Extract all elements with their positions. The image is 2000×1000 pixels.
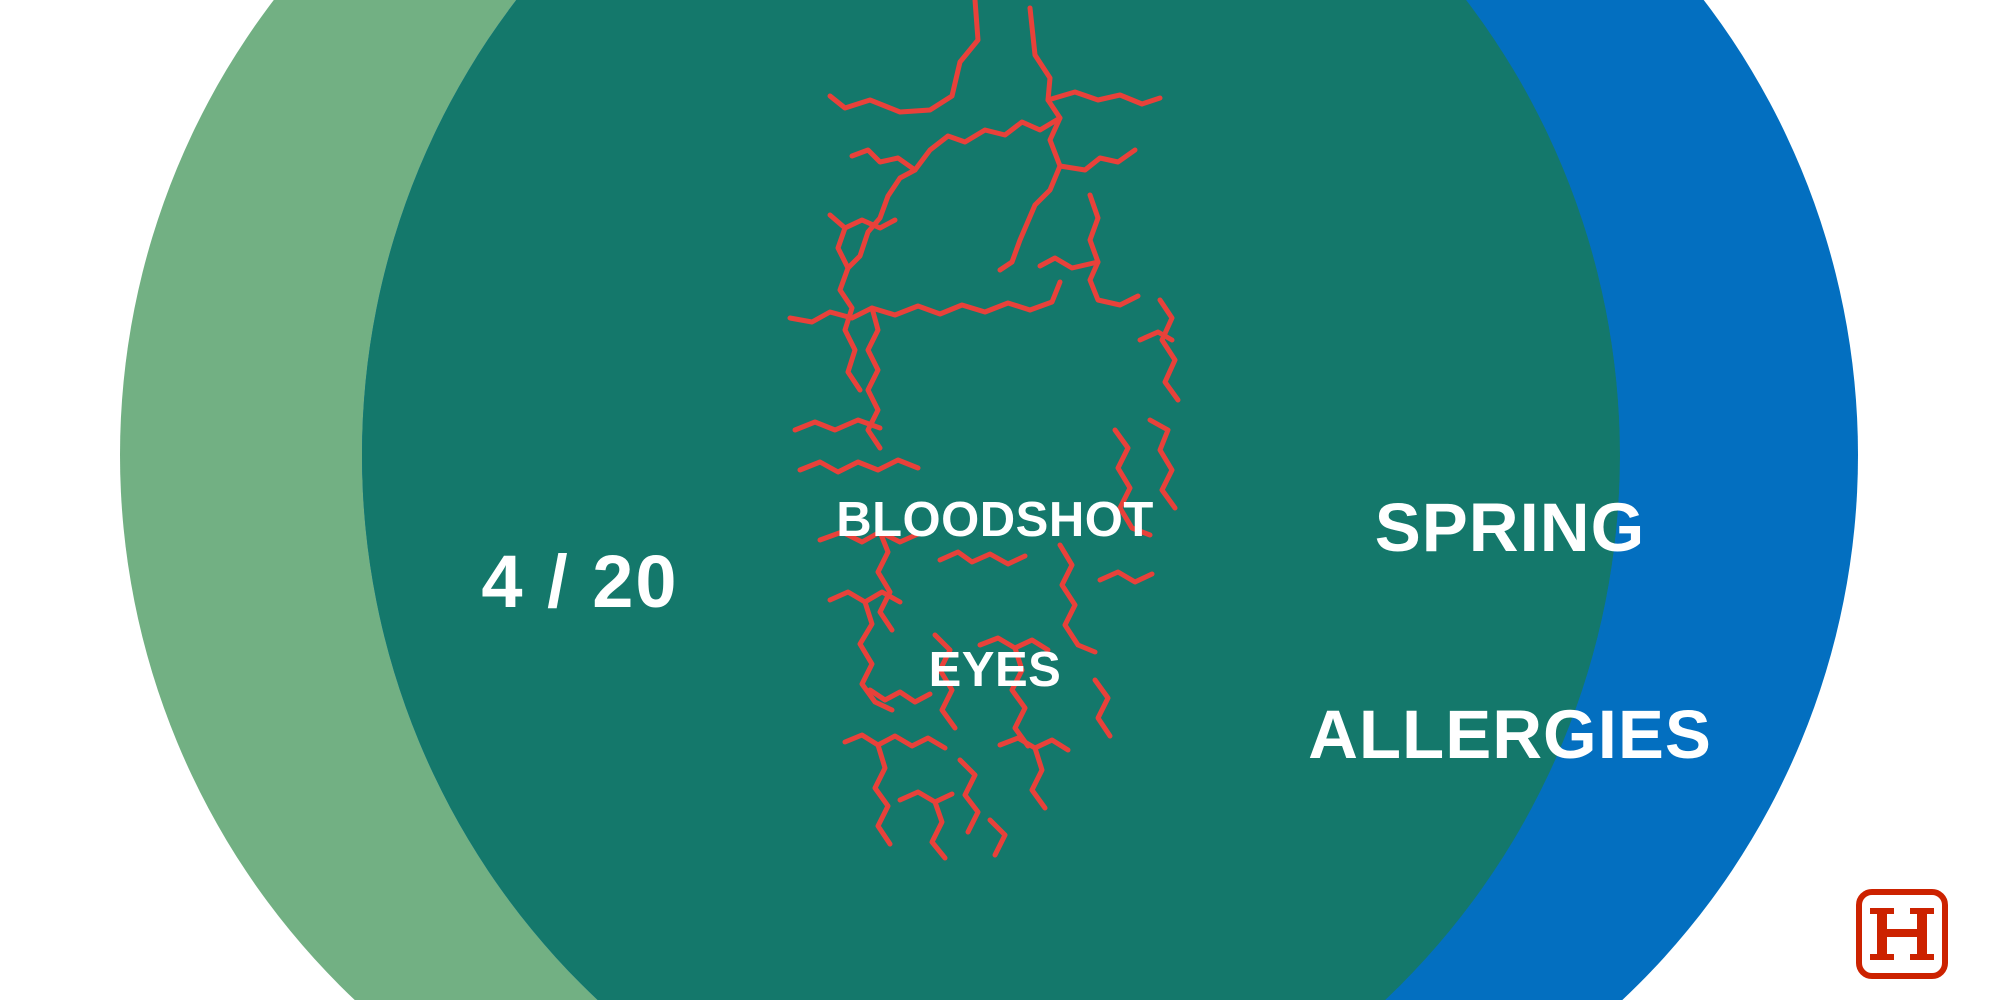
venn-label-intersection-line-1: BLOODSHOT <box>815 496 1175 546</box>
venn-label-intersection-line-2: EYES <box>815 646 1175 696</box>
huffpost-logo[interactable] <box>1853 888 1957 980</box>
venn-label-right: SPRING ALLERGIES <box>1230 355 1790 907</box>
venn-label-right-line-1: SPRING <box>1230 493 1790 562</box>
venn-label-intersection: BLOODSHOT EYES <box>815 396 1175 796</box>
venn-label-left-line-1: 4 / 20 <box>370 544 790 621</box>
venn-diagram-canvas: 4 / 20 BLOODSHOT EYES SPRING ALLERGIES <box>0 0 2000 1000</box>
venn-label-left: 4 / 20 <box>370 390 790 775</box>
venn-label-right-line-2: ALLERGIES <box>1230 700 1790 769</box>
